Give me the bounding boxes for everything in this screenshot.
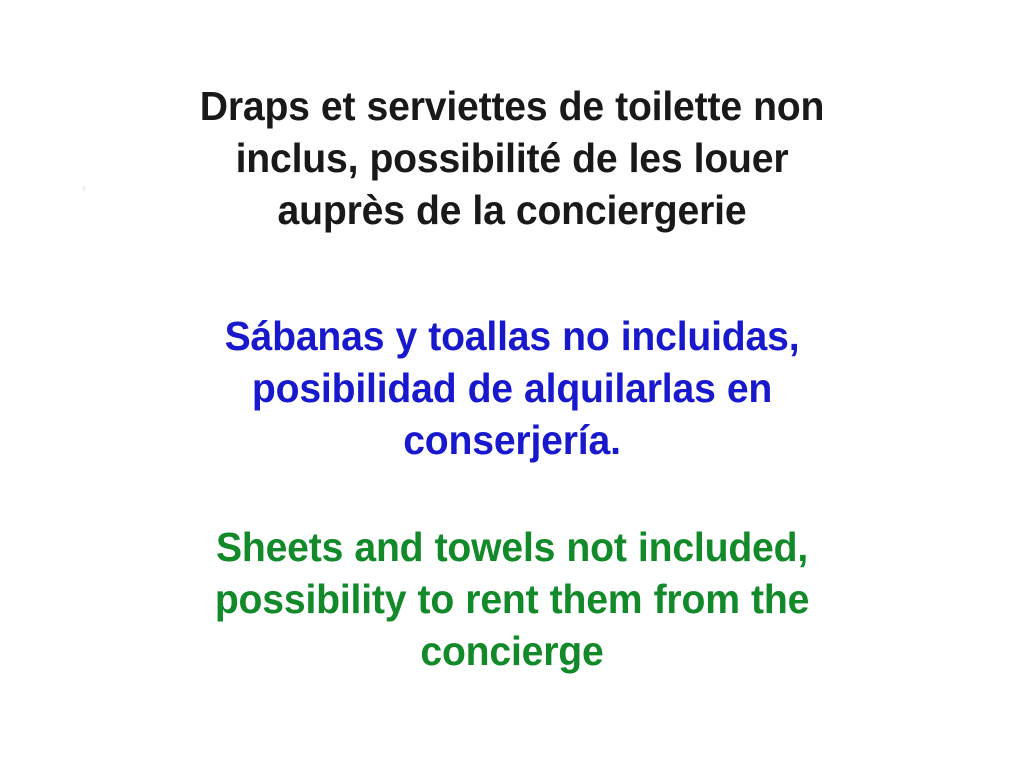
- notice-line: Sheets and towels not included,: [23, 521, 1001, 573]
- notice-line: posibilidad de alquilarlas en: [23, 362, 1001, 414]
- notice-line: Draps et serviettes de toilette non: [23, 80, 1001, 132]
- slide-canvas: Draps et serviettes de toilette non incl…: [0, 0, 1024, 768]
- notice-line: possibility to rent them from the: [23, 573, 1001, 625]
- notice-line: inclus, possibilité de les louer: [23, 132, 1001, 184]
- notice-line: Sábanas y toallas no incluidas,: [23, 310, 1001, 362]
- scan-artifact-speck: [82, 186, 86, 191]
- notice-block-french: Draps et serviettes de toilette non incl…: [23, 80, 1001, 236]
- notice-block-english: Sheets and towels not included, possibil…: [23, 521, 1001, 677]
- notice-line: auprès de la conciergerie: [23, 184, 1001, 236]
- notice-line: concierge: [23, 625, 1001, 677]
- notice-block-spanish: Sábanas y toallas no incluidas, posibili…: [23, 310, 1001, 466]
- notice-line: conserjería.: [23, 414, 1001, 466]
